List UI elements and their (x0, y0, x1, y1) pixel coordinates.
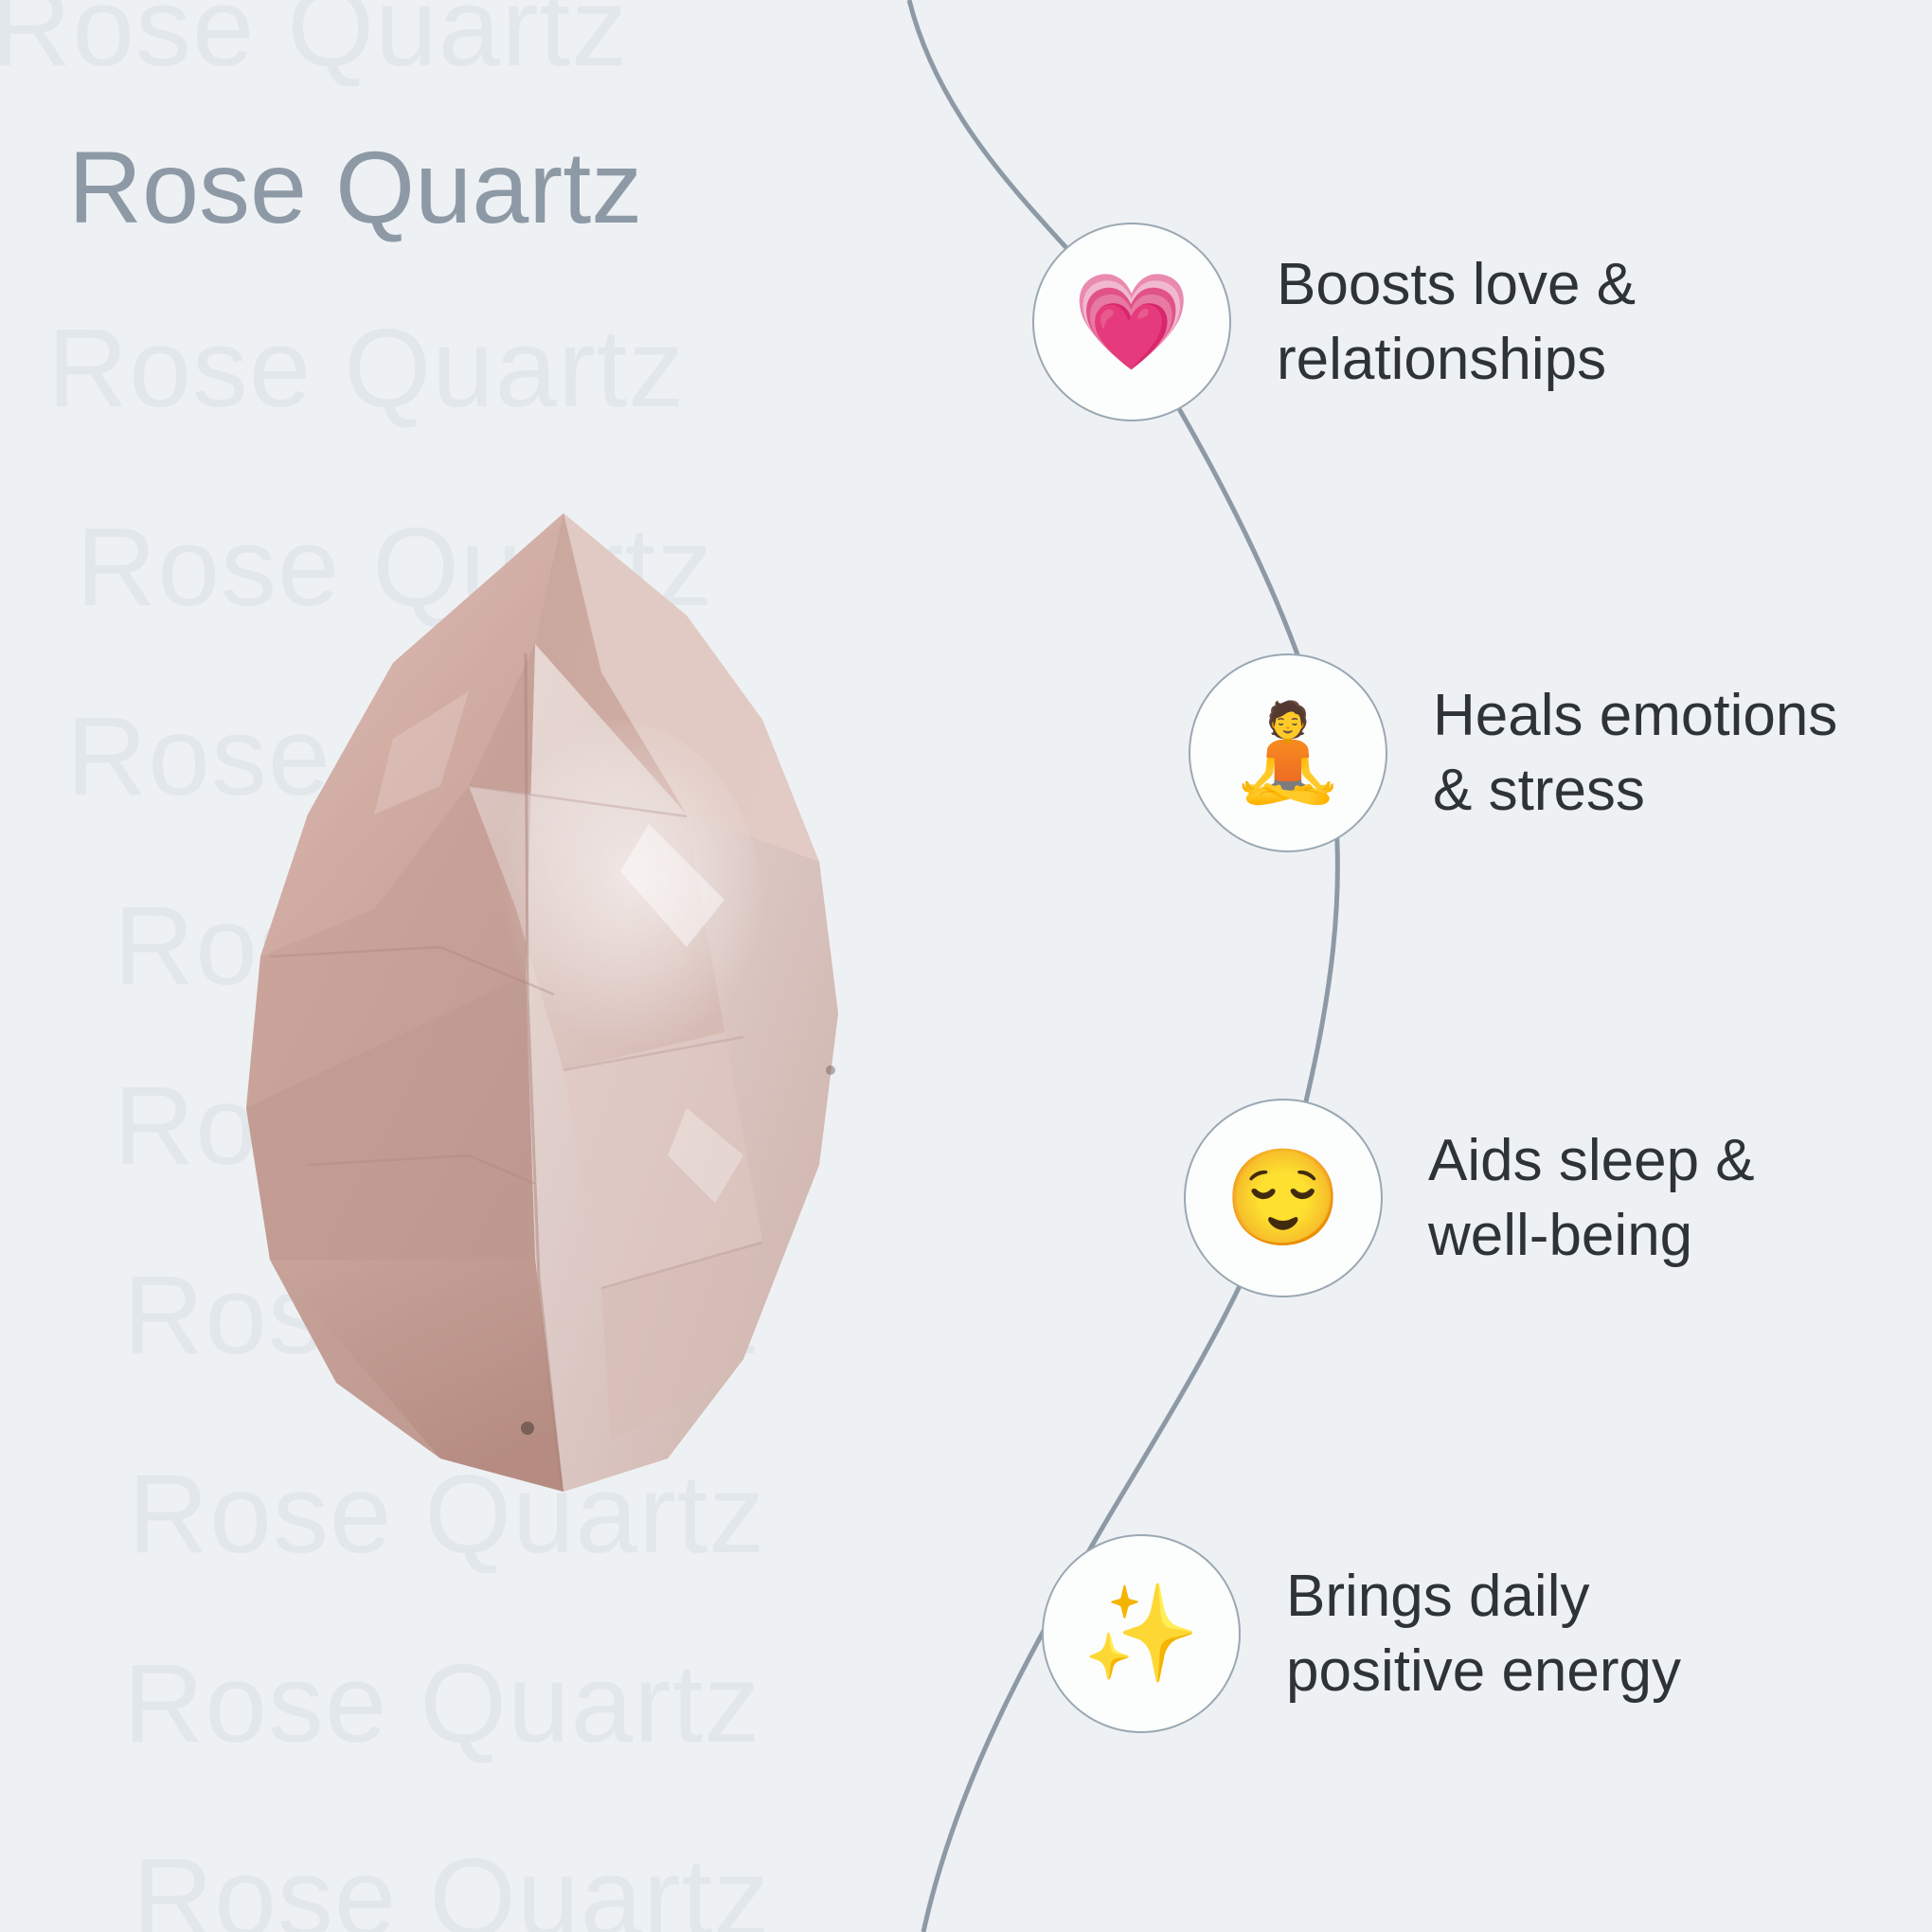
person-in-lotus-position-icon: 🧘 (1229, 706, 1348, 800)
growing-heart-icon: 💗 (1073, 275, 1191, 369)
benefit-item[interactable]: ✨ Brings daily positive energy (1042, 1534, 1681, 1733)
benefit-item[interactable]: 💗 Boosts love & relationships (1032, 223, 1636, 421)
benefit-icon-bubble: 😌 (1184, 1099, 1383, 1297)
relieved-face-icon: 😌 (1225, 1151, 1343, 1245)
benefit-icon-bubble: 💗 (1032, 223, 1231, 421)
benefit-icon-bubble: ✨ (1042, 1534, 1241, 1733)
benefit-label: Boosts love & relationships (1277, 247, 1636, 398)
benefit-item[interactable]: 🧘 Heals emotions & stress (1189, 653, 1837, 852)
benefit-label: Brings daily positive energy (1286, 1559, 1681, 1709)
sparkles-icon: ✨ (1082, 1586, 1201, 1681)
benefit-label: Aids sleep & well-being (1428, 1123, 1755, 1274)
benefit-icon-bubble: 🧘 (1189, 653, 1387, 852)
infographic-canvas: Rose Quartz Rose Quartz Rose Quartz Rose… (0, 0, 1932, 1932)
benefit-item[interactable]: 😌 Aids sleep & well-being (1184, 1099, 1755, 1297)
benefit-label: Heals emotions & stress (1433, 678, 1837, 829)
